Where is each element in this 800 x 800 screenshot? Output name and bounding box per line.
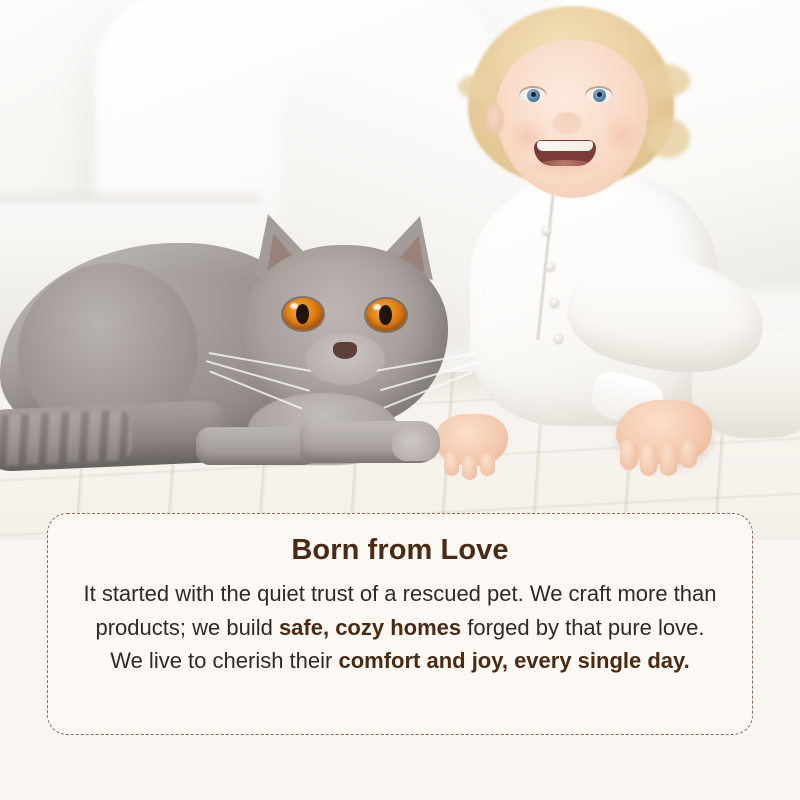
baby-figure [440, 0, 800, 500]
card-body: It started with the quiet trust of a res… [82, 577, 718, 678]
promo-poster: Born from Love It started with the quiet… [0, 0, 800, 800]
card-body-emphasis: comfort and joy, every single day. [338, 648, 689, 673]
cat-tail [0, 400, 229, 473]
baby-eye-left [520, 88, 546, 103]
baby-ear [484, 104, 504, 134]
cat-eye-glint-left [290, 303, 298, 309]
baby-finger [680, 440, 697, 468]
card-body-emphasis: safe, cozy homes [279, 615, 461, 640]
cat-eye-left [283, 298, 323, 330]
baby-finger [480, 454, 495, 476]
onesie-snap [550, 298, 559, 307]
onesie-snap [542, 226, 551, 235]
cat-figure [0, 215, 480, 485]
cat-eye-right [366, 299, 406, 331]
baby-lower-lip [528, 160, 602, 178]
card-title: Born from Love [291, 536, 508, 565]
baby-nose [552, 112, 582, 134]
hero-photo [0, 0, 800, 540]
baby-iris-right [593, 89, 606, 102]
hair-wisp [646, 118, 690, 158]
story-card: Born from Love It started with the quiet… [47, 513, 753, 735]
baby-finger [640, 444, 657, 476]
cat-nose [333, 342, 357, 359]
baby-iris-left [527, 89, 540, 102]
baby-finger [660, 444, 677, 476]
cat-toes [392, 427, 440, 461]
cat-pupil-left [296, 304, 309, 324]
baby-teeth [537, 141, 593, 151]
cat-pupil-right [379, 305, 392, 325]
cat-muzzle [305, 333, 385, 385]
baby-cheek-right [600, 116, 644, 152]
baby-finger [620, 440, 637, 470]
baby-eye-right [586, 88, 612, 103]
cat-eye-glint-right [373, 304, 381, 310]
onesie-snap [546, 262, 555, 271]
onesie-snap [554, 334, 563, 343]
